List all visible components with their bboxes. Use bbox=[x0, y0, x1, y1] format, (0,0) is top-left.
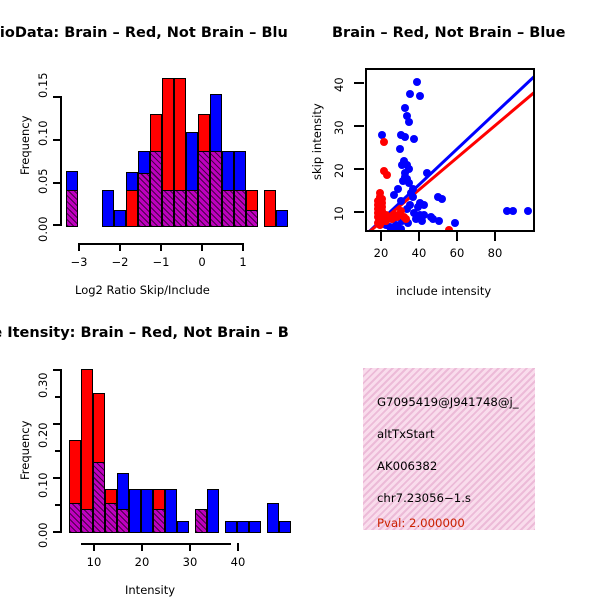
scatter-xlabel: include intensity bbox=[396, 284, 491, 298]
ratio-xtick--2: −2 bbox=[109, 255, 131, 269]
scatter-xtick-mark-80 bbox=[494, 232, 496, 241]
ratio-xtick--3: −3 bbox=[68, 255, 90, 269]
ratio-xtick-mark-1 bbox=[242, 243, 244, 251]
scatter-point bbox=[374, 197, 382, 205]
bar-purple bbox=[66, 190, 78, 227]
bar-purple bbox=[198, 151, 210, 227]
scatter-point bbox=[380, 138, 388, 146]
scatter-point bbox=[397, 197, 405, 205]
bar-purple bbox=[105, 503, 117, 533]
scatter-point bbox=[423, 169, 431, 177]
scatter-ytick-mark-10 bbox=[354, 211, 364, 213]
bar-purple bbox=[162, 190, 174, 227]
bar-purple bbox=[195, 509, 207, 533]
panel-intensity-scatter: Brain – Red, Not Brain – Blue skip inten… bbox=[300, 0, 600, 300]
scatter-point bbox=[383, 171, 391, 179]
ratio-histogram-xlabel: Log2 Ratio Skip/Include bbox=[75, 283, 210, 297]
event-info-box: G7095419@J941748@j_ altTxStart AK006382 … bbox=[363, 368, 535, 530]
ratio-xtick-mark--2 bbox=[119, 243, 121, 251]
scatter-point bbox=[395, 211, 403, 219]
ratio-histogram-ylabel: Frequency bbox=[18, 116, 32, 175]
gene-xtick-20: 20 bbox=[131, 555, 153, 569]
ratio-xtick-1: 1 bbox=[232, 255, 254, 269]
gene-xtick-mark-10 bbox=[93, 543, 95, 551]
gene-xtick-mark-20 bbox=[141, 543, 143, 551]
scatter-xtick-mark-20 bbox=[380, 232, 382, 241]
info-event-id: G7095419@J941748@j_ bbox=[377, 395, 519, 409]
scatter-point bbox=[402, 215, 410, 223]
info-accession: AK006382 bbox=[377, 459, 437, 473]
gene-xtick-10: 10 bbox=[83, 555, 105, 569]
gene-ytick-mark-0.15 bbox=[55, 450, 62, 452]
bar-red bbox=[126, 190, 138, 227]
scatter-ylabel: skip intensity bbox=[310, 103, 324, 180]
info-locus: chr7.23056−1.s bbox=[377, 491, 471, 505]
gene-intensity-ylabel: Frequency bbox=[18, 421, 32, 480]
bar-purple bbox=[69, 503, 81, 533]
info-event-type: altTxStart bbox=[377, 427, 435, 441]
bar-purple bbox=[93, 462, 105, 533]
scatter-xtick-mark-40 bbox=[418, 232, 420, 241]
bar-red bbox=[264, 190, 276, 227]
scatter-point bbox=[405, 118, 413, 126]
ratio-ytick-0.15: 0.15 bbox=[36, 72, 50, 98]
gene-ytick-mark-0.10 bbox=[53, 477, 62, 479]
scatter-point bbox=[400, 157, 408, 165]
scatter-ytick-30: 30 bbox=[332, 120, 346, 135]
gene-xaxis-line bbox=[81, 543, 231, 545]
scatter-xtick-20: 20 bbox=[370, 246, 392, 260]
bar-purple bbox=[246, 210, 258, 227]
scatter-point bbox=[413, 78, 421, 86]
scatter-title: Brain – Red, Not Brain – Blue bbox=[332, 25, 565, 41]
scatter-ytick-10: 10 bbox=[332, 206, 346, 221]
bar-blue bbox=[267, 503, 279, 533]
gene-xtick-mark-40 bbox=[237, 543, 239, 551]
ratio-ytick-mark-0.10 bbox=[53, 139, 62, 141]
gene-ytick-0.30: 0.30 bbox=[36, 372, 50, 398]
scatter-ytick-40: 40 bbox=[332, 77, 346, 92]
scatter-point bbox=[396, 145, 404, 153]
bar-purple bbox=[153, 509, 165, 533]
bar-blue bbox=[207, 489, 219, 533]
ratio-ytick-0.05: 0.05 bbox=[36, 168, 50, 194]
bar-purple bbox=[150, 151, 162, 227]
ratio-ytick-mark-0.00 bbox=[53, 224, 62, 226]
scatter-plot-area bbox=[365, 68, 535, 232]
panel-ratio-histogram: RatioData: Brain – Red, Not Brain – Blu … bbox=[0, 0, 300, 300]
gene-ytick-mark-0.30 bbox=[53, 369, 62, 371]
gene-ytick-mark-0.20 bbox=[53, 423, 62, 425]
scatter-point bbox=[397, 225, 405, 232]
ratio-yaxis-line bbox=[60, 96, 62, 226]
scatter-point bbox=[435, 217, 443, 225]
scatter-point bbox=[524, 207, 532, 215]
bar-purple bbox=[210, 151, 222, 227]
scatter-point bbox=[406, 201, 414, 209]
gene-ytick-0.20: 0.20 bbox=[36, 422, 50, 448]
scatter-point bbox=[376, 221, 384, 229]
bar-blue bbox=[279, 521, 291, 533]
scatter-point bbox=[438, 195, 446, 203]
gene-xtick-30: 30 bbox=[179, 555, 201, 569]
bar-blue bbox=[237, 521, 249, 533]
scatter-xtick-mark-60 bbox=[456, 232, 458, 241]
ratio-histogram-title: RatioData: Brain – Red, Not Brain – Blu bbox=[0, 25, 288, 41]
ratio-xtick-mark--3 bbox=[78, 243, 80, 251]
bar-blue bbox=[225, 521, 237, 533]
bar-purple bbox=[222, 190, 234, 227]
bar-blue bbox=[114, 210, 126, 227]
scatter-ytick-20: 20 bbox=[332, 163, 346, 178]
bar-blue bbox=[276, 210, 288, 227]
bar-blue bbox=[129, 489, 141, 533]
scatter-ytick-mark-20 bbox=[354, 168, 364, 170]
scatter-point bbox=[418, 217, 426, 225]
scatter-point bbox=[401, 133, 409, 141]
bar-blue bbox=[165, 489, 177, 533]
scatter-point bbox=[410, 135, 418, 143]
info-pval: Pval: 2.000000 bbox=[377, 516, 465, 530]
bar-purple bbox=[174, 190, 186, 227]
scatter-point bbox=[409, 185, 417, 193]
gene-ytick-0.00: 0.00 bbox=[36, 522, 50, 548]
scatter-point bbox=[401, 104, 409, 112]
scatter-ytick-mark-40 bbox=[354, 82, 364, 84]
scatter-point bbox=[451, 219, 459, 227]
ratio-ytick-mark-0.05 bbox=[53, 182, 62, 184]
ratio-xtick-mark--1 bbox=[160, 243, 162, 251]
scatter-xtick-60: 60 bbox=[446, 246, 468, 260]
gene-intensity-title: ne Itensity: Brain – Red, Not Brain – B bbox=[0, 325, 289, 341]
gene-ytick-mark-0.00 bbox=[53, 531, 62, 533]
scatter-ytick-mark-30 bbox=[354, 125, 364, 127]
panel-gene-intensity-histogram: ne Itensity: Brain – Red, Not Brain – B … bbox=[0, 300, 300, 600]
scatter-point bbox=[445, 226, 453, 232]
gene-ytick-0.10: 0.10 bbox=[36, 472, 50, 498]
ratio-xtick--1: −1 bbox=[150, 255, 172, 269]
bar-purple bbox=[186, 190, 198, 227]
ratio-ytick-mark-0.15 bbox=[53, 96, 62, 98]
bar-blue bbox=[102, 190, 114, 227]
scatter-point bbox=[509, 207, 517, 215]
bar-blue bbox=[141, 489, 153, 533]
scatter-xtick-40: 40 bbox=[408, 246, 430, 260]
gene-intensity-xlabel: Intensity bbox=[125, 583, 175, 597]
bar-blue bbox=[177, 521, 189, 533]
bar-purple bbox=[81, 509, 93, 533]
gene-ytick-mark-0.25 bbox=[55, 396, 62, 398]
ratio-ytick-0.10: 0.10 bbox=[36, 120, 50, 146]
bar-purple bbox=[234, 190, 246, 227]
bar-purple bbox=[117, 509, 129, 533]
gene-ytick-mark-0.05 bbox=[55, 504, 62, 506]
ratio-xtick-0: 0 bbox=[191, 255, 213, 269]
gene-xtick-mark-30 bbox=[189, 543, 191, 551]
scatter-point bbox=[416, 92, 424, 100]
bar-blue bbox=[249, 521, 261, 533]
ratio-xtick-mark-0 bbox=[201, 243, 203, 251]
ratio-ytick-0.00: 0.00 bbox=[36, 216, 50, 242]
scatter-xtick-80: 80 bbox=[484, 246, 506, 260]
bar-purple bbox=[138, 173, 150, 227]
scatter-point bbox=[406, 90, 414, 98]
gene-xtick-40: 40 bbox=[227, 555, 249, 569]
